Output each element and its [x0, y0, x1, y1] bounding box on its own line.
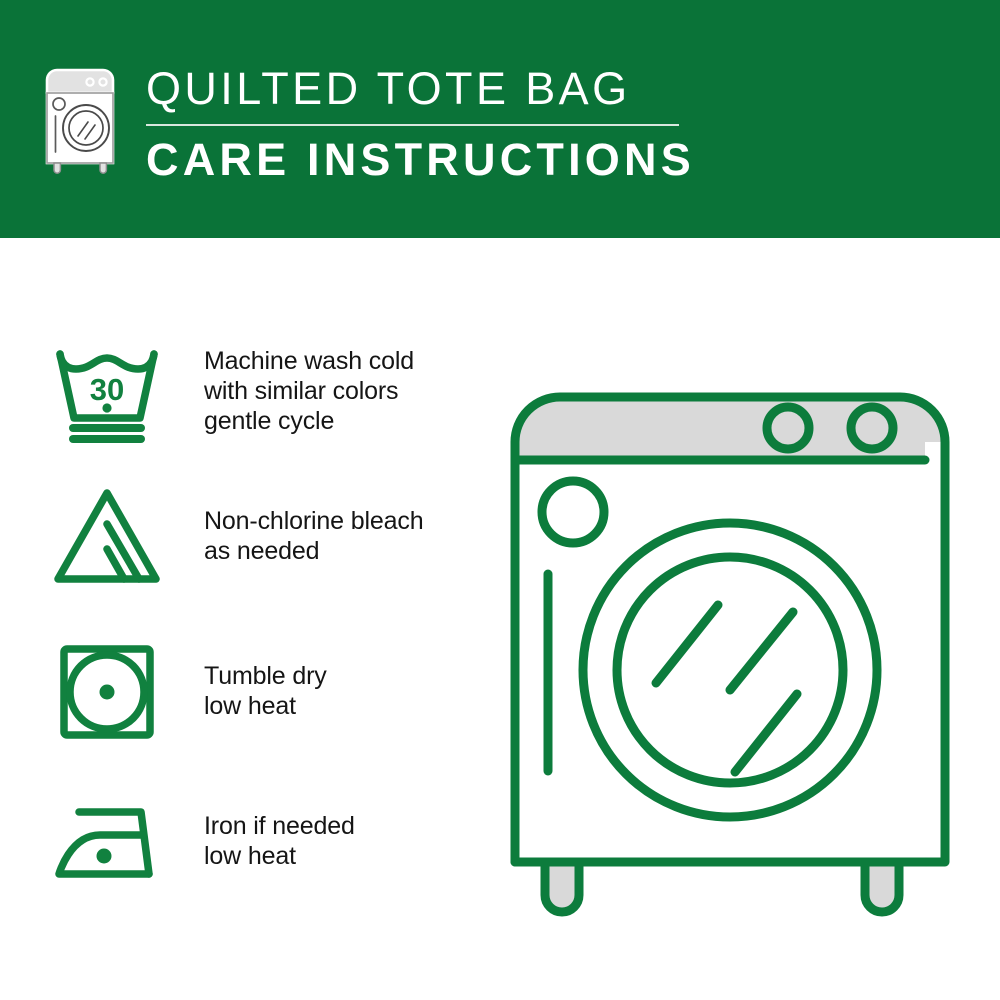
door-shine-line: [735, 694, 797, 772]
heat-level-dot: [100, 685, 115, 700]
title-divider: [146, 124, 679, 126]
door-shine-line: [730, 612, 793, 690]
washer-leg: [545, 862, 579, 912]
bleach-triangle-icon: [48, 483, 166, 591]
iron-icon: [48, 788, 166, 896]
page-title: QUILTED TOTE BAG: [146, 66, 695, 111]
header-content: QUILTED TOTE BAG CARE INSTRUCTIONS: [42, 62, 695, 182]
care-instruction-list: 30 Machine wash cold with similar colors…: [0, 238, 480, 1000]
door-shine-line: [656, 605, 718, 683]
care-instruction-item: 30 Machine wash cold with similar colors…: [48, 338, 414, 446]
header-text-block: QUILTED TOTE BAG CARE INSTRUCTIONS: [146, 62, 695, 182]
page-subtitle: CARE INSTRUCTIONS: [146, 137, 695, 182]
care-instruction-text: Machine wash cold with similar colors ge…: [204, 347, 414, 436]
wash-temperature-label: 30: [90, 372, 124, 407]
care-instruction-item: Non-chlorine bleach as needed: [48, 483, 424, 591]
washer-door-outer: [583, 523, 877, 817]
washer-dial: [542, 481, 604, 543]
header-band: QUILTED TOTE BAG CARE INSTRUCTIONS: [0, 0, 1000, 238]
washer-leg: [865, 862, 899, 912]
care-instruction-item: Tumble dry low heat: [48, 638, 327, 746]
washer-door-inner: [617, 557, 843, 783]
care-instruction-text: Tumble dry low heat: [204, 662, 327, 722]
care-instruction-text: Iron if needed low heat: [204, 812, 355, 872]
heat-level-dot: [97, 849, 112, 864]
tumble-dry-icon: [48, 638, 166, 746]
care-instruction-item: Iron if needed low heat: [48, 788, 355, 896]
washer-body-outline: [515, 397, 945, 862]
washing-machine-illustration: [490, 330, 970, 930]
washing-machine-icon: [42, 66, 118, 174]
care-instruction-text: Non-chlorine bleach as needed: [204, 507, 424, 567]
wash-tub-30-icon: 30: [48, 338, 166, 446]
